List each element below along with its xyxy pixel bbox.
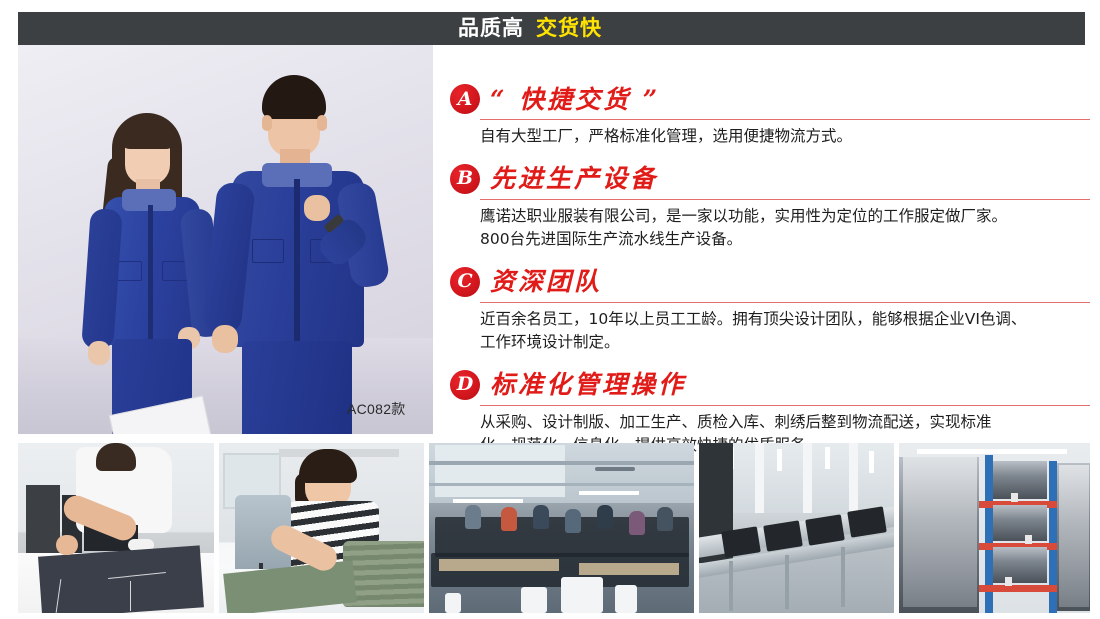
gallery-image-automated-line [699,443,894,613]
feature-d-title: 标准化管理操作 [490,372,686,397]
feature-b-body: 鹰诺达职业服装有限公司，是一家以功能，实用性为定位的工作服定做厂家。 800台先… [480,205,1088,252]
badge-letter-b-icon: B [450,164,480,194]
feature-a-body-line-1: 自有大型工厂，严格标准化管理，选用便捷物流方式。 [480,125,1088,149]
feature-b-body-line-1: 鹰诺达职业服装有限公司，是一家以功能，实用性为定位的工作服定做厂家。 [480,205,1088,229]
feature-c-body-line-2: 工作环境设计制定。 [480,331,1088,355]
feature-a-underline [480,119,1090,120]
feature-item-c: C 资深团队 近百余名员工，10年以上员工工龄。拥有顶尖设计团队，能够根据企业V… [450,261,1090,355]
male-model-figure [208,75,388,434]
feature-d-underline [480,405,1090,406]
badge-letter-a-icon: A [450,84,480,114]
feature-c-heading: C 资深团队 [450,261,1090,303]
feature-b-underline [480,199,1090,200]
feature-c-body-line-1: 近百余名员工，10年以上员工工龄。拥有顶尖设计团队，能够根据企业VI色调、 [480,308,1088,332]
feature-c-underline [480,302,1090,303]
gallery-image-garment-warehouse [899,443,1090,613]
feature-c-title: 资深团队 [490,269,602,294]
feature-list: A “ 快捷交货 ” 自有大型工厂，严格标准化管理，选用便捷物流方式。 B 先进… [450,78,1090,467]
header-title-dark: 品质高 [458,16,524,40]
product-code-label: AC082款 [347,399,406,419]
page-title: 品质高交货快 [458,18,602,39]
feature-a-title: “ 快捷交货 ” [490,87,660,112]
feature-b-heading: B 先进生产设备 [450,158,1090,200]
factory-gallery-strip [18,443,1085,613]
badge-letter-c-icon: C [450,267,480,297]
feature-d-body-line-1: 从采购、设计制版、加工生产、质检入库、刺绣后整到物流配送，实现标准 [480,411,1088,435]
gallery-image-fabric-cutting [18,443,214,613]
gallery-image-production-floor [429,443,694,613]
header-banner: 品质高交货快 [18,12,1085,45]
feature-item-a: A “ 快捷交货 ” 自有大型工厂，严格标准化管理，选用便捷物流方式。 [450,78,1090,149]
feature-c-body: 近百余名员工，10年以上员工工龄。拥有顶尖设计团队，能够根据企业VI色调、 工作… [480,308,1088,355]
feature-a-heading: A “ 快捷交货 ” [450,78,1090,120]
gallery-image-sewing-operator [219,443,424,613]
feature-item-b: B 先进生产设备 鹰诺达职业服装有限公司，是一家以功能，实用性为定位的工作服定做… [450,158,1090,252]
female-model-figure [78,113,228,434]
header-title-accent: 交货快 [536,16,602,40]
feature-d-heading: D 标准化管理操作 [450,364,1090,406]
feature-b-title: 先进生产设备 [490,166,658,191]
feature-a-body: 自有大型工厂，严格标准化管理，选用便捷物流方式。 [480,125,1088,149]
feature-b-body-line-2: 800台先进国际生产流水线生产设备。 [480,228,1088,252]
hero-product-photo [18,45,433,434]
badge-letter-d-icon: D [450,370,480,400]
